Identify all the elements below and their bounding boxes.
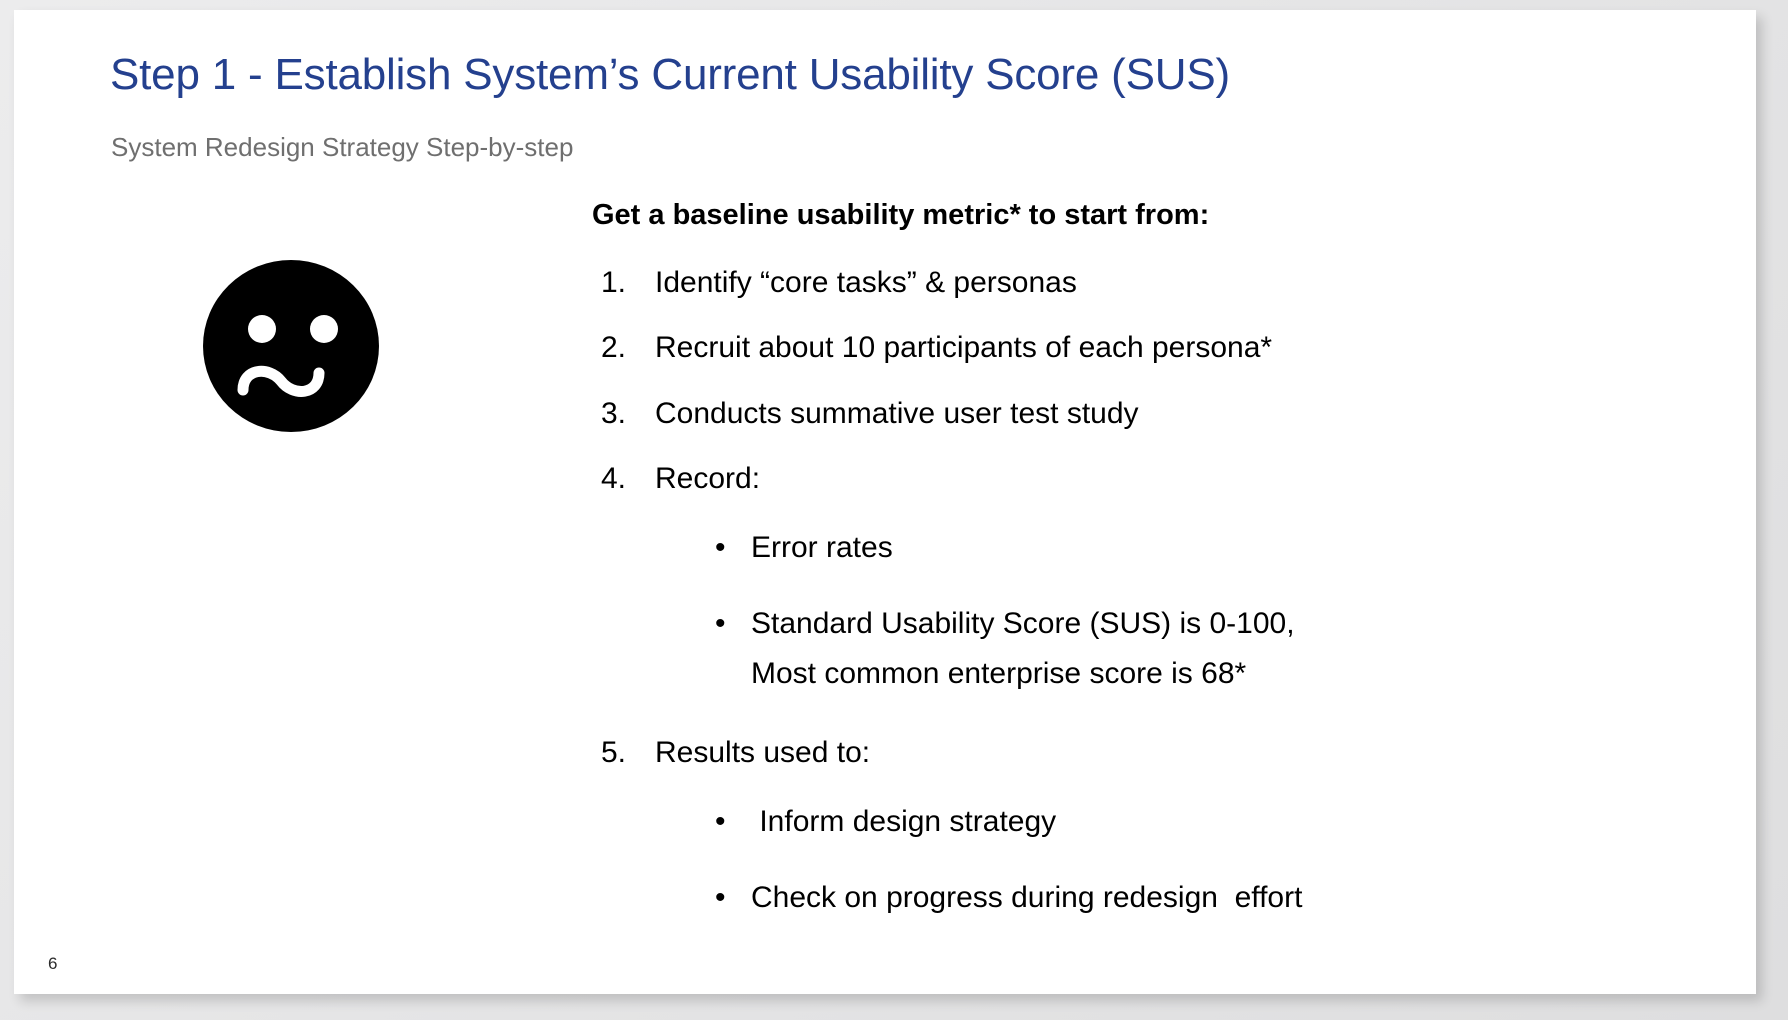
step-text: Record: — [655, 460, 1692, 498]
content-heading: Get a baseline usability metric* to star… — [592, 198, 1692, 233]
bullet-icon: • — [715, 523, 726, 573]
page-subtitle: System Redesign Strategy Step-by-step — [111, 132, 573, 163]
steps-list: 1. Identify “core tasks” & personas 2. R… — [592, 264, 1692, 923]
list-item: 3. Conducts summative user test study — [592, 395, 1692, 433]
sub-bullet-text: Standard Usability Score (SUS) is 0-100, — [751, 599, 1692, 649]
sub-bullet-text: Error rates — [751, 523, 1692, 573]
sub-bullet-list: • Error rates • Standard Usability Score… — [655, 523, 1692, 699]
list-item: 1. Identify “core tasks” & personas — [592, 264, 1692, 302]
step-text: Identify “core tasks” & personas — [655, 264, 1692, 302]
list-item: • Check on progress during redesign effo… — [655, 873, 1692, 923]
list-item: 4. Record: • Error rates • Standard Usab… — [592, 460, 1692, 698]
step-text: Results used to: — [655, 734, 1692, 772]
bullet-icon: • — [715, 599, 726, 649]
slide-canvas: Step 1 - Establish System’s Current Usab… — [14, 10, 1756, 994]
list-item: • Error rates — [655, 523, 1692, 573]
page-title: Step 1 - Establish System’s Current Usab… — [110, 50, 1230, 99]
step-number: 3. — [601, 395, 645, 433]
step-number: 1. — [601, 264, 645, 302]
confused-face-icon — [203, 260, 379, 432]
bullet-icon: • — [715, 873, 726, 923]
step-text: Recruit about 10 participants of each pe… — [655, 329, 1692, 367]
confused-face-svg — [203, 260, 379, 432]
content-column: Get a baseline usability metric* to star… — [592, 198, 1692, 923]
step-number: 5. — [601, 734, 645, 772]
list-item: 5. Results used to: • Inform design stra… — [592, 734, 1692, 923]
list-item: 2. Recruit about 10 participants of each… — [592, 329, 1692, 367]
bullet-icon: • — [715, 797, 726, 847]
sub-bullet-text: Check on progress during redesign effort — [751, 873, 1692, 923]
list-item: • Inform design strategy — [655, 797, 1692, 847]
list-item: • Standard Usability Score (SUS) is 0-10… — [655, 599, 1692, 698]
step-number: 4. — [601, 460, 645, 498]
sub-bullet-list: • Inform design strategy • Check on prog… — [655, 797, 1692, 923]
step-text: Conducts summative user test study — [655, 395, 1692, 433]
slide-stage: Step 1 - Establish System’s Current Usab… — [0, 0, 1788, 1020]
step-number: 2. — [601, 329, 645, 367]
page-number: 6 — [48, 954, 57, 974]
sub-bullet-text-line2: Most common enterprise score is 68* — [751, 649, 1692, 699]
sub-bullet-text: Inform design strategy — [751, 797, 1692, 847]
